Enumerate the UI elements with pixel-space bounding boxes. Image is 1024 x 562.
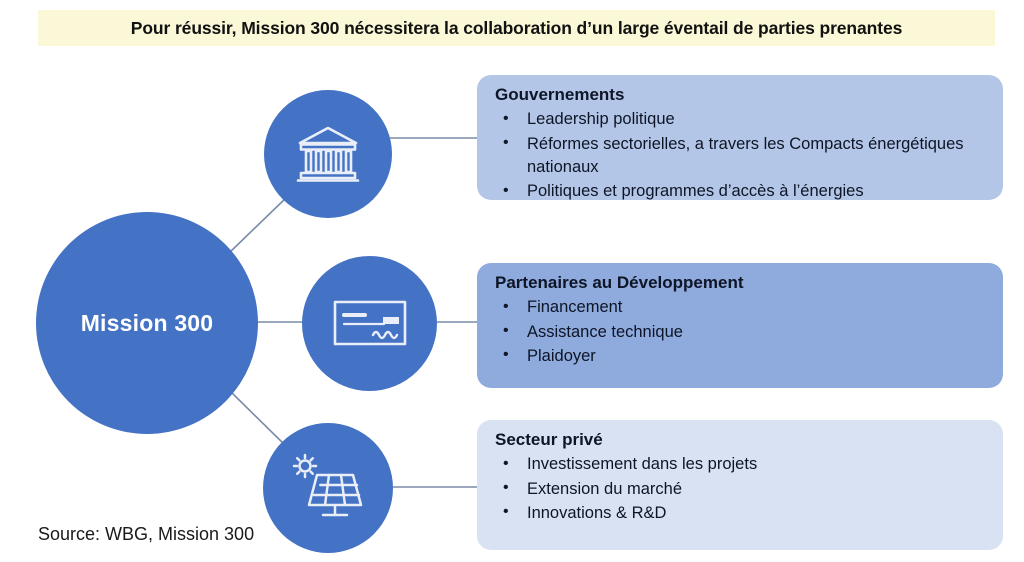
connector-hub-to-node1 (228, 196, 288, 254)
list-item: Financement (495, 296, 985, 319)
list-item: Réformes sectorielles, a travers les Com… (495, 133, 985, 180)
list-item: Politiques et programmes d’accès à l’éne… (495, 180, 985, 203)
info-box-title: Partenaires au Développement (495, 272, 985, 294)
info-box-bullet-list: Leadership politique Réformes sectoriell… (495, 108, 985, 204)
hub-circle-mission-300[interactable]: Mission 300 (36, 212, 258, 434)
info-box-title: Secteur privé (495, 429, 985, 451)
cheque-icon (332, 298, 408, 350)
page-title: Pour réussir, Mission 300 nécessitera la… (131, 18, 902, 39)
slide-canvas: Pour réussir, Mission 300 nécessitera la… (0, 0, 1024, 562)
slide-title-band: Pour réussir, Mission 300 nécessitera la… (38, 10, 995, 46)
list-item: Assistance technique (495, 321, 985, 344)
info-box-secteur-prive: Secteur privé Investissement dans les pr… (477, 420, 1003, 550)
info-box-title: Gouvernements (495, 84, 985, 106)
info-box-bullet-list: Financement Assistance technique Plaidoy… (495, 296, 985, 368)
info-box-bullet-list: Investissement dans les projets Extensio… (495, 453, 985, 525)
list-item: Extension du marché (495, 478, 985, 501)
info-box-gouvernements: Gouvernements Leadership politique Réfor… (477, 75, 1003, 200)
list-item: Innovations & R&D (495, 502, 985, 525)
bank-building-icon (295, 123, 361, 185)
solar-panel-icon (291, 453, 365, 523)
node-circle-secteur-prive[interactable] (263, 423, 393, 553)
list-item: Plaidoyer (495, 345, 985, 368)
node-circle-gouvernements[interactable] (264, 90, 392, 218)
list-item: Leadership politique (495, 108, 985, 131)
list-item: Investissement dans les projets (495, 453, 985, 476)
info-box-partenaires: Partenaires au Développement Financement… (477, 263, 1003, 388)
node-circle-partenaires[interactable] (302, 256, 437, 391)
hub-label: Mission 300 (81, 310, 214, 337)
connector-hub-to-node3 (231, 392, 287, 447)
source-note: Source: WBG, Mission 300 (38, 524, 254, 545)
